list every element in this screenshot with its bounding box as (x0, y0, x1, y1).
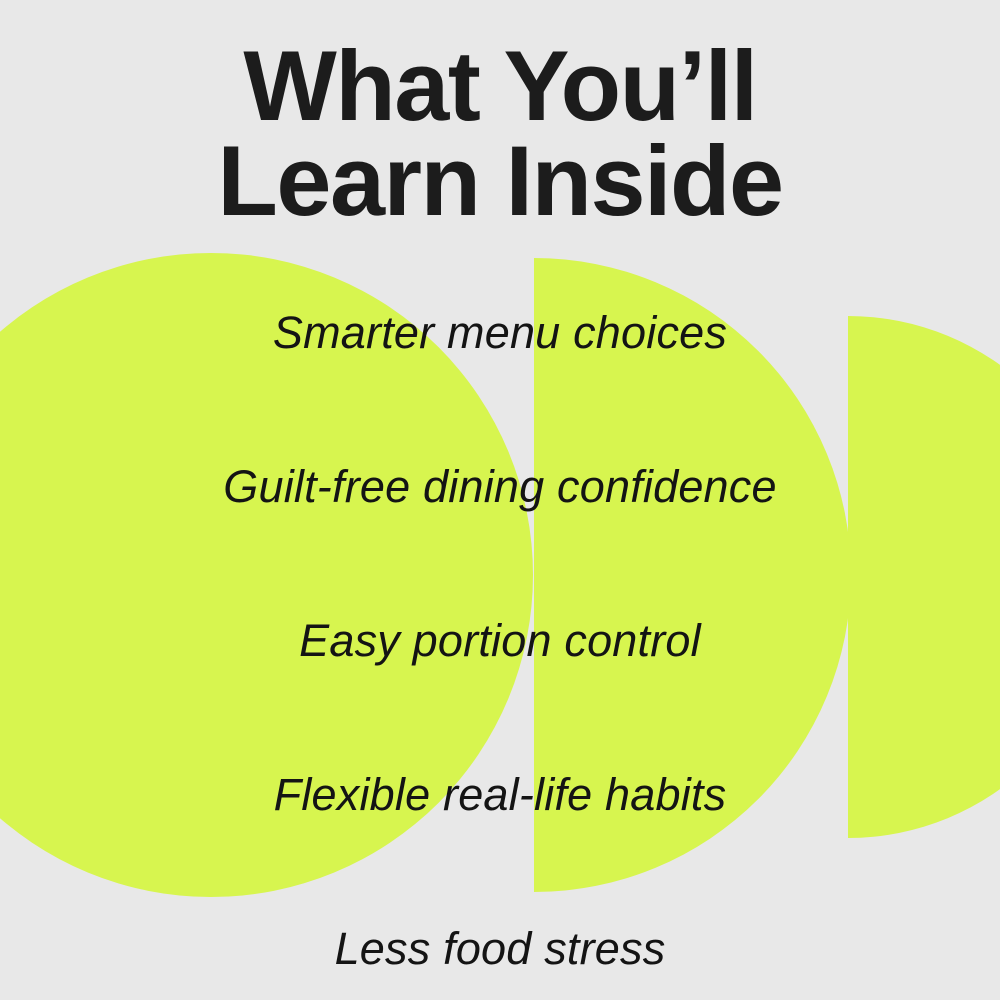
list-item: Easy portion control (0, 564, 1000, 718)
page-title: What You’ll Learn Inside (0, 38, 1000, 228)
list-item: Guilt-free dining confidence (0, 410, 1000, 564)
list-item: Flexible real-life habits (0, 718, 1000, 872)
poster-canvas: What You’ll Learn Inside Smarter menu ch… (0, 0, 1000, 1000)
list-item: Smarter menu choices (0, 256, 1000, 410)
benefits-list: Smarter menu choices Guilt-free dining c… (0, 228, 1000, 1000)
poster-content: What You’ll Learn Inside Smarter menu ch… (0, 0, 1000, 1000)
list-item: Less food stress (0, 872, 1000, 1000)
